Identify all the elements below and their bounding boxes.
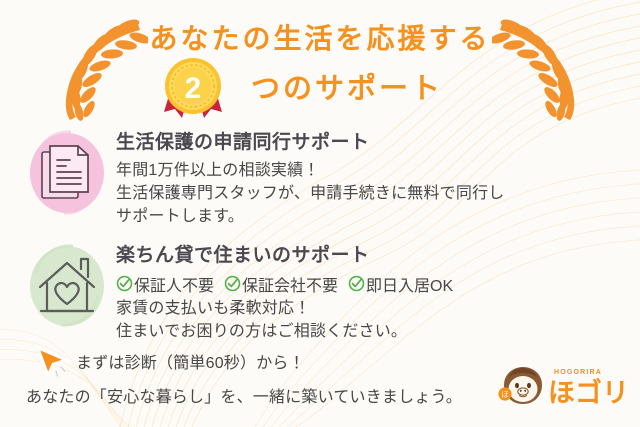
section-1-icon xyxy=(26,128,108,220)
section-2-icon xyxy=(26,241,108,333)
section-2-body: 楽ちん貸で住まいのサポート 保証人不要 保証会社不要 xyxy=(108,241,640,343)
gorilla-mascot-icon: ほ xyxy=(498,367,542,404)
hogorira-logo[interactable]: ほ HOGORIRA ほゴリラ xyxy=(496,363,632,411)
mascot-badge-char: ほ xyxy=(501,390,508,399)
section-1-line-3: サポートします。 xyxy=(116,205,640,228)
check-item-label: 保証人不要 xyxy=(134,272,214,296)
check-circle-icon xyxy=(224,275,241,292)
click-cursor-icon xyxy=(30,344,76,378)
headline-line-2-wrap: つのサポート xyxy=(0,75,640,104)
check-item-label: 保証会社不要 xyxy=(242,272,338,296)
house-heart-icon xyxy=(26,241,108,333)
gold-medal-icon: 2 xyxy=(158,56,228,122)
section-2-heading: 楽ちん貸で住まいのサポート xyxy=(116,244,640,268)
support-section-1: 生活保護の申請同行サポート 年間1万件以上の相談実績！ 生活保護専門スタッフが、… xyxy=(0,128,640,241)
banner-footer: まずは診断（簡単60秒）から！ あなたの「安心な暮らし」を、一緒に築いていきまし… xyxy=(0,345,640,417)
banner-header: あなたの生活を応援する つのサポート 2 xyxy=(0,0,640,128)
section-1-body: 生活保護の申請同行サポート 年間1万件以上の相談実績！ 生活保護専門スタッフが、… xyxy=(108,128,640,228)
support-section-2: 楽ちん貸で住まいのサポート 保証人不要 保証会社不要 xyxy=(0,241,640,345)
medal-number: 2 xyxy=(185,72,202,105)
gold-medal-badge: 2 xyxy=(158,56,228,122)
section-2-line-2: 住まいでお困りの方はご相談ください。 xyxy=(116,320,640,343)
section-1-heading: 生活保護の申請同行サポート xyxy=(116,131,640,155)
document-stack-icon xyxy=(26,128,108,220)
section-2-line-1: 家賃の支払いも柔軟対応！ xyxy=(116,297,640,320)
check-item: 保証人不要 xyxy=(116,272,214,296)
footer-line-1: まずは診断（簡単60秒）から！ xyxy=(76,349,305,373)
headline-line-2: つのサポート xyxy=(251,73,443,105)
promo-banner: あなたの生活を応援する つのサポート 2 xyxy=(0,0,640,427)
check-circle-icon xyxy=(116,275,133,292)
logo-romaji: HOGORIRA xyxy=(554,369,602,376)
check-item: 即日入居OK xyxy=(348,272,453,296)
check-circle-icon xyxy=(348,275,365,292)
headline-line-1: あなたの生活を応援する xyxy=(0,25,640,53)
section-1-line-1: 年間1万件以上の相談実績！ xyxy=(116,159,640,182)
check-item: 保証会社不要 xyxy=(224,272,338,296)
check-item-label: 即日入居OK xyxy=(366,272,453,296)
section-1-line-2: 生活保護専門スタッフが、申請手続きに無料で同行し xyxy=(116,182,640,205)
logo-wordmark: ほゴリラ xyxy=(548,377,632,408)
section-2-check-list: 保証人不要 保証会社不要 即日入居OK xyxy=(116,272,640,296)
footer-line-2: あなたの「安心な暮らし」を、一緒に築いていきましょう。 xyxy=(26,383,462,407)
